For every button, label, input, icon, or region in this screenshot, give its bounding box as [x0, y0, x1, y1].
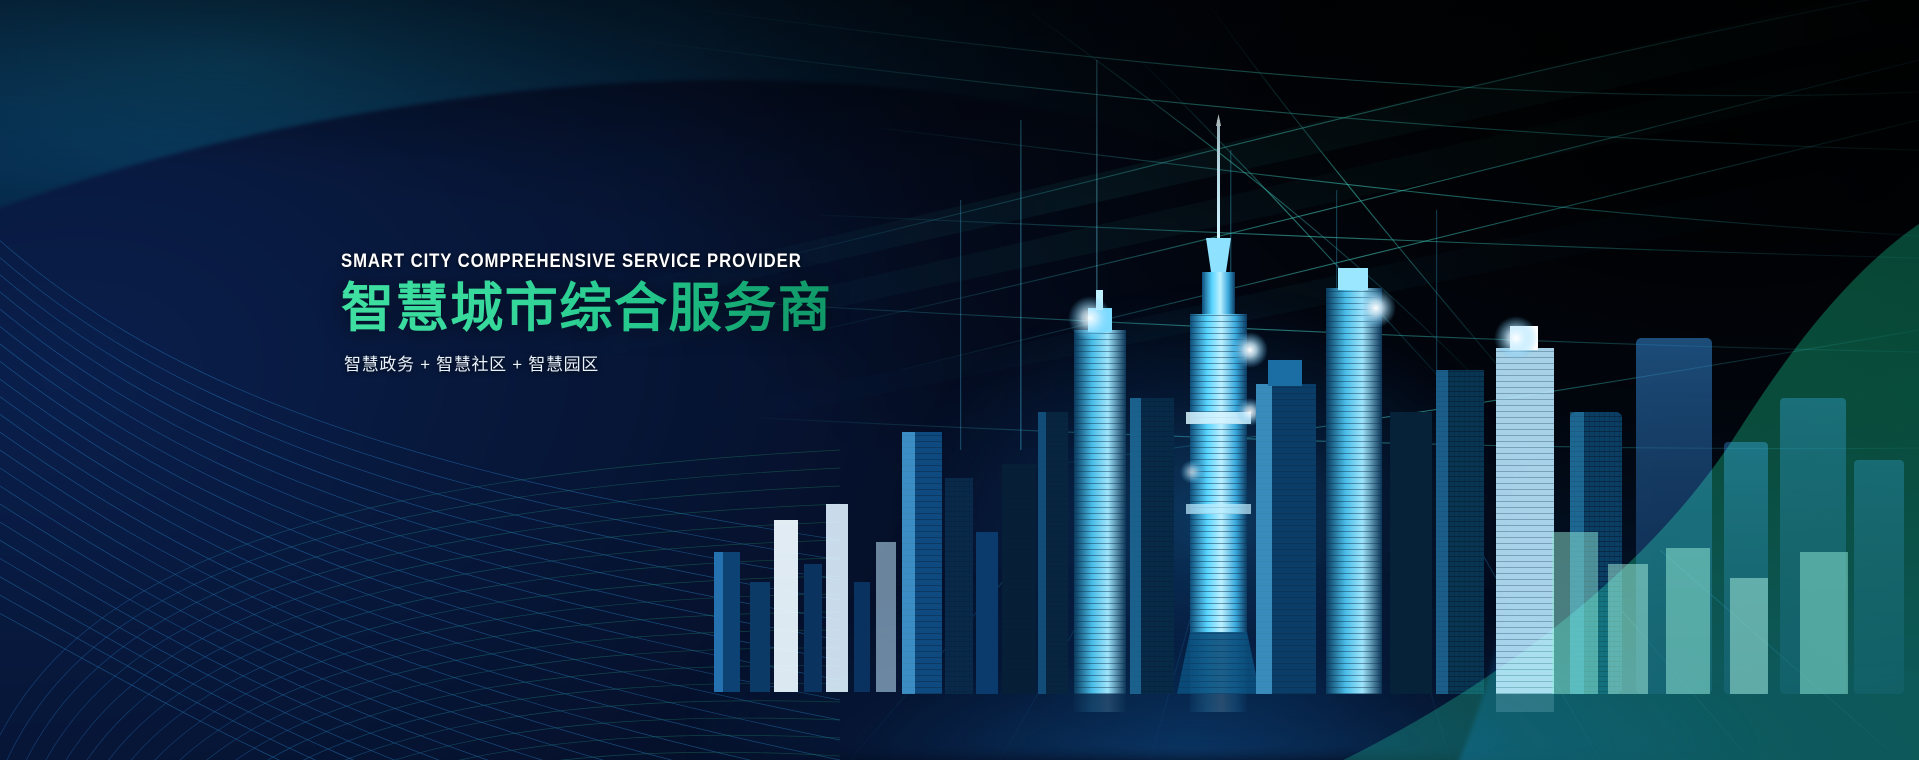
- eyebrow-text: SMART CITY COMPREHENSIVE SERVICE PROVIDE…: [341, 252, 802, 273]
- subtitle-text: 智慧政务 + 智慧社区 + 智慧园区: [344, 350, 865, 375]
- page-title: 智慧城市综合服务商: [341, 280, 865, 337]
- background-dark-overlay: [0, 0, 1919, 760]
- headline-copy-block: SMART CITY COMPREHENSIVE SERVICE PROVIDE…: [341, 252, 865, 375]
- hero-banner: SMART CITY COMPREHENSIVE SERVICE PROVIDE…: [0, 0, 1919, 760]
